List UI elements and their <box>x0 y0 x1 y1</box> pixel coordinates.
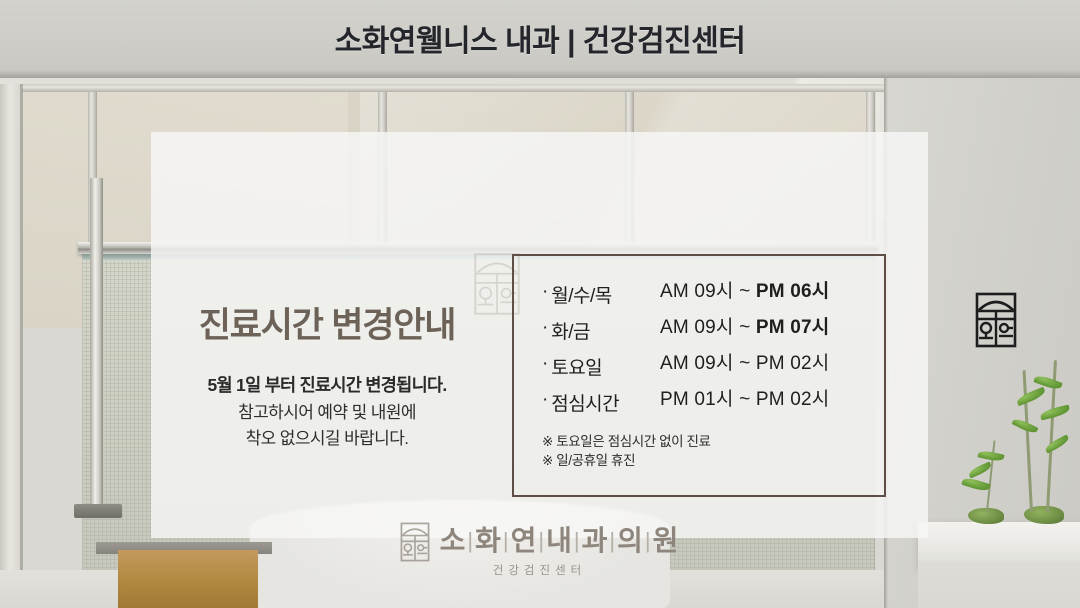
schedule-time-value: AM 09시 ~ PM 07시 <box>660 312 829 339</box>
clinic-logo: 소|화|연|내|과|의|원 <box>151 522 928 562</box>
schedule-row: ·토요일AM 09시 ~ PM 02시 <box>542 348 872 384</box>
schedule-day-label: 토요일 <box>551 353 660 380</box>
schedule-time-value: AM 09시 ~ PM 02시 <box>660 348 829 375</box>
schedule-time-value: PM 01시 ~ PM 02시 <box>660 384 829 411</box>
schedule-row: ·화/금AM 09시 ~ PM 07시 <box>542 312 872 348</box>
schedule-close-time: PM 07시 <box>756 317 830 338</box>
schedule-row: ·점심시간PM 01시 ~ PM 02시 <box>542 384 872 420</box>
schedule-open-time: AM 09시 ~ <box>660 317 756 338</box>
schedule-close-time: PM 02시 <box>756 389 830 410</box>
schedule-day-label: 월/수/목 <box>551 281 660 308</box>
logo-separator: | <box>466 524 475 558</box>
schedule-list: ·월/수/목AM 09시 ~ PM 06시·화/금AM 09시 ~ PM 07시… <box>542 276 872 420</box>
schedule-day-label: 점심시간 <box>551 389 660 416</box>
logo-char: 소 <box>440 525 467 556</box>
schedule-row: ·월/수/목AM 09시 ~ PM 06시 <box>542 276 872 312</box>
schedule-note: ※ 일/공휴일 휴진 <box>542 451 711 470</box>
logo-separator: | <box>644 524 653 558</box>
white-ledge-front <box>918 562 1080 608</box>
notice-content: 진료시간 변경안내 5월 1일 부터 진료시간 변경됩니다. 참고하시어 예약 … <box>151 132 928 608</box>
schedule-close-time: PM 02시 <box>756 353 830 374</box>
logo-char: 원 <box>653 525 680 556</box>
bullet-icon: · <box>542 281 551 308</box>
bullet-icon: · <box>542 353 551 380</box>
door-frame-top <box>0 84 892 92</box>
wall-logo-emblem-icon <box>975 292 1017 348</box>
schedule-open-time: AM 09시 ~ <box>660 353 756 374</box>
glass-post-foot <box>74 504 122 518</box>
logo-char: 의 <box>617 525 644 556</box>
logo-char: 과 <box>582 525 609 556</box>
notice-headline: 진료시간 변경안내 <box>151 297 503 348</box>
schedule-time-value: AM 09시 ~ PM 06시 <box>660 276 829 303</box>
schedule-open-time: AM 09시 ~ <box>660 281 756 302</box>
notice-subline-1: 5월 1일 부터 진료시간 변경됩니다. <box>151 372 503 397</box>
notice-subline-2: 참고하시어 예약 및 내원에 <box>151 398 503 423</box>
logo-subtitle: 건강검진센터 <box>151 562 928 578</box>
logo-separator: | <box>502 524 511 558</box>
logo-emblem-icon <box>400 522 430 562</box>
page-title: 소화연웰니스 내과 | 건강검진센터 <box>0 16 1080 60</box>
door-jamb-left <box>0 84 22 608</box>
schedule-open-time: PM 01시 ~ <box>660 389 756 410</box>
glass-support-post <box>90 178 103 508</box>
schedule-note: ※ 토요일은 점심시간 없이 진료 <box>542 432 711 451</box>
schedule-close-time: PM 06시 <box>756 281 830 302</box>
door-jamb-edge <box>20 84 23 608</box>
bullet-icon: · <box>542 389 551 416</box>
signage-screenshot: 진료시간 변경안내 5월 1일 부터 진료시간 변경됩니다. 참고하시어 예약 … <box>0 0 1080 608</box>
notice-subline-3: 착오 없으시길 바랍니다. <box>151 424 503 449</box>
logo-separator: | <box>573 524 582 558</box>
logo-char: 연 <box>511 525 538 556</box>
logo-char: 내 <box>546 525 573 556</box>
bullet-icon: · <box>542 317 551 344</box>
logo-char: 화 <box>475 525 502 556</box>
schedule-day-label: 화/금 <box>551 317 660 344</box>
top-banner: 소화연웰니스 내과 | 건강검진센터 <box>0 0 1080 78</box>
schedule-box: ·월/수/목AM 09시 ~ PM 06시·화/금AM 09시 ~ PM 07시… <box>512 254 886 497</box>
logo-separator: | <box>608 524 617 558</box>
logo-separator: | <box>537 524 546 558</box>
logo-wordmark: 소|화|연|내|과|의|원 <box>440 524 680 560</box>
schedule-notes: ※ 토요일은 점심시간 없이 진료※ 일/공휴일 휴진 <box>542 432 711 470</box>
